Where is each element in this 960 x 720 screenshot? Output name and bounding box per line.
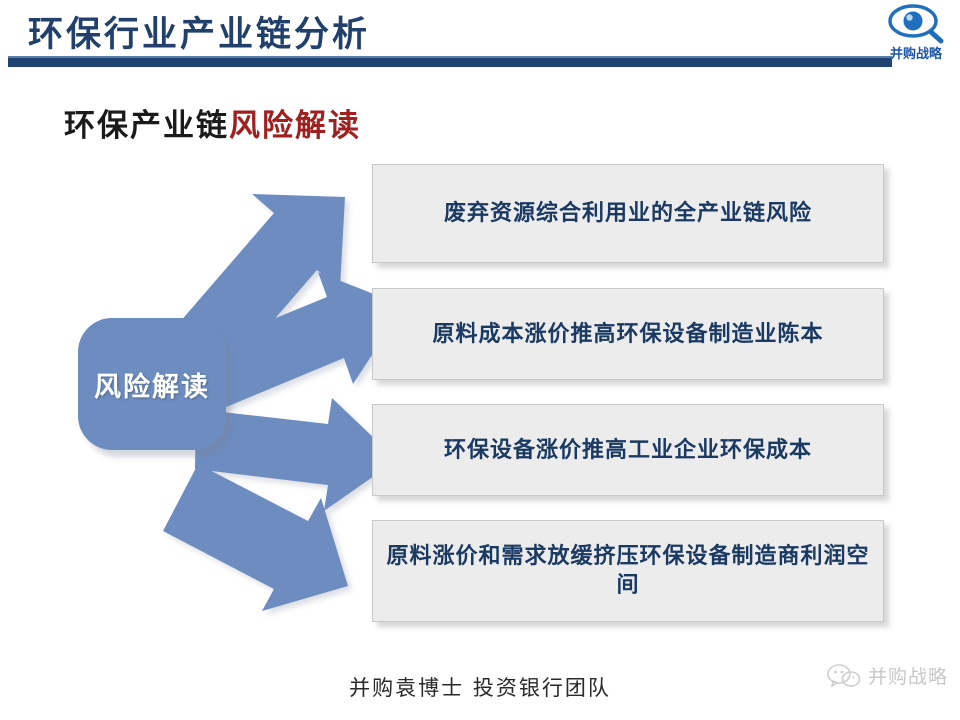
risk-box-3[interactable]: 环保设备涨价推高工业企业环保成本 <box>372 404 884 496</box>
risk-diagram: 风险解读 废弃资源综合利用业的全产业链风险 原料成本涨价推高环保设备制造业陈本 … <box>0 0 960 720</box>
risk-box-2-label: 原料成本涨价推高环保设备制造业陈本 <box>432 320 823 349</box>
risk-box-1[interactable]: 废弃资源综合利用业的全产业链风险 <box>372 164 884 263</box>
watermark-text: 并购战略 <box>868 662 948 689</box>
risk-box-1-label: 废弃资源综合利用业的全产业链风险 <box>444 199 812 228</box>
wechat-icon <box>827 663 861 689</box>
hub-node-risk-interpretation[interactable]: 风险解读 <box>78 318 226 450</box>
watermark: 并购战略 <box>827 662 948 689</box>
hub-node-label: 风险解读 <box>94 365 210 404</box>
arrow-to-risk-4 <box>163 464 348 611</box>
risk-box-4-label: 原料涨价和需求放缓挤压环保设备制造商利润空间 <box>383 542 873 599</box>
risk-box-2[interactable]: 原料成本涨价推高环保设备制造业陈本 <box>372 288 884 380</box>
footer-credit: 并购袁博士 投资银行团队 <box>0 672 960 702</box>
risk-box-3-label: 环保设备涨价推高工业企业环保成本 <box>444 436 812 465</box>
risk-box-4[interactable]: 原料涨价和需求放缓挤压环保设备制造商利润空间 <box>372 520 884 622</box>
